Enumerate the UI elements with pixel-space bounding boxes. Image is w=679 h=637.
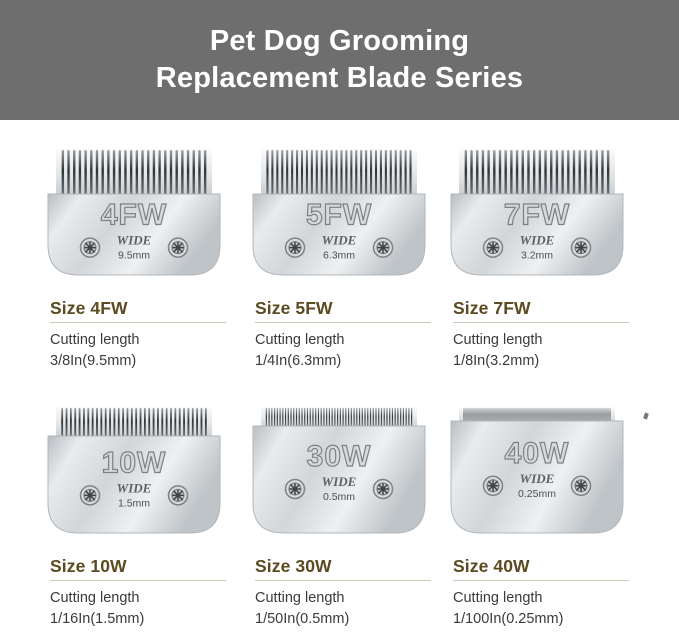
svg-text:WIDE: WIDE — [322, 474, 357, 489]
cutting-length-value: 1/16In(1.5mm) — [50, 609, 240, 630]
svg-text:7FW: 7FW — [504, 199, 570, 232]
svg-text:40W: 40W — [505, 437, 570, 470]
product-size-title: Size 5FW — [255, 298, 445, 319]
cutting-length-value: 1/4In(6.3mm) — [255, 351, 445, 372]
header-banner: Pet Dog Grooming Replacement Blade Serie… — [0, 0, 679, 120]
svg-text:WIDE: WIDE — [117, 233, 152, 248]
product-description: Cutting length 1/4In(6.3mm) — [255, 330, 445, 371]
svg-text:0.25mm: 0.25mm — [518, 488, 556, 500]
product-size-title: Size 30W — [255, 556, 445, 577]
product-card-10w[interactable]: 10W WIDE 1.5mm Size 10W Cutting length 1… — [31, 378, 237, 636]
product-size-title: Size 40W — [453, 556, 643, 577]
product-row-bottom: 10W WIDE 1.5mm Size 10W Cutting length 1… — [0, 378, 679, 636]
blade-image-10w: 10W WIDE 1.5mm — [31, 402, 237, 542]
product-size-title: Size 4FW — [50, 298, 240, 319]
svg-text:WIDE: WIDE — [117, 480, 152, 495]
product-caption-7fw: Size 7FW Cutting length 1/8In(3.2mm) — [453, 298, 643, 371]
svg-text:0.5mm: 0.5mm — [323, 491, 355, 503]
title-underline — [50, 580, 226, 581]
cutting-length-label: Cutting length — [255, 588, 445, 609]
cutting-length-value: 3/8In(9.5mm) — [50, 351, 240, 372]
cutting-length-value: 1/50In(0.5mm) — [255, 609, 445, 630]
page-title-line-2: Replacement Blade Series — [156, 60, 523, 97]
product-card-30w[interactable]: 30W WIDE 0.5mm Size 30W Cutting length 1… — [236, 378, 442, 636]
product-card-7fw[interactable]: 7FW WIDE 3.2mm Size 7FW Cutting length 1… — [434, 120, 640, 378]
svg-text:WIDE: WIDE — [520, 471, 555, 486]
svg-text:30W: 30W — [307, 440, 372, 473]
blade-image-40w: 40W WIDE 0.25mm — [434, 402, 640, 542]
product-caption-5fw: Size 5FW Cutting length 1/4In(6.3mm) — [255, 298, 445, 371]
svg-text:5FW: 5FW — [306, 199, 372, 232]
cutting-length-label: Cutting length — [255, 330, 445, 351]
product-description: Cutting length 1/16In(1.5mm) — [50, 588, 240, 629]
product-grid: 4FW WIDE 9.5mm Size 4FW Cutting length 3… — [0, 120, 679, 637]
svg-text:6.3mm: 6.3mm — [323, 250, 355, 262]
product-description: Cutting length 1/100In(0.25mm) — [453, 588, 643, 629]
cutting-length-label: Cutting length — [50, 588, 240, 609]
cutting-length-value: 1/100In(0.25mm) — [453, 609, 643, 630]
product-size-title: Size 7FW — [453, 298, 643, 319]
product-caption-10w: Size 10W Cutting length 1/16In(1.5mm) — [50, 556, 240, 629]
product-caption-30w: Size 30W Cutting length 1/50In(0.5mm) — [255, 556, 445, 629]
product-description: Cutting length 3/8In(9.5mm) — [50, 330, 240, 371]
blade-image-30w: 30W WIDE 0.5mm — [236, 402, 442, 542]
product-size-title: Size 10W — [50, 556, 240, 577]
svg-text:4FW: 4FW — [101, 199, 167, 232]
product-caption-4fw: Size 4FW Cutting length 3/8In(9.5mm) — [50, 298, 240, 371]
svg-text:1.5mm: 1.5mm — [118, 497, 150, 509]
cutting-length-value: 1/8In(3.2mm) — [453, 351, 643, 372]
product-card-40w[interactable]: 40W WIDE 0.25mm Size 40W Cutting length … — [434, 378, 640, 636]
svg-text:WIDE: WIDE — [322, 233, 357, 248]
product-card-4fw[interactable]: 4FW WIDE 9.5mm Size 4FW Cutting length 3… — [31, 120, 237, 378]
title-underline — [453, 580, 629, 581]
svg-text:WIDE: WIDE — [520, 233, 555, 248]
title-underline — [50, 322, 226, 323]
svg-text:9.5mm: 9.5mm — [118, 250, 150, 262]
blade-image-5fw: 5FW WIDE 6.3mm — [236, 144, 442, 284]
svg-text:10W: 10W — [102, 446, 167, 479]
product-description: Cutting length 1/50In(0.5mm) — [255, 588, 445, 629]
cutting-length-label: Cutting length — [453, 588, 643, 609]
blade-image-7fw: 7FW WIDE 3.2mm — [434, 144, 640, 284]
blade-image-4fw: 4FW WIDE 9.5mm — [31, 144, 237, 284]
cutting-length-label: Cutting length — [50, 330, 240, 351]
page-title-line-1: Pet Dog Grooming — [210, 23, 469, 60]
product-caption-40w: Size 40W Cutting length 1/100In(0.25mm) — [453, 556, 643, 629]
title-underline — [453, 322, 629, 323]
product-row-top: 4FW WIDE 9.5mm Size 4FW Cutting length 3… — [0, 120, 679, 378]
title-underline — [255, 580, 431, 581]
svg-text:3.2mm: 3.2mm — [521, 250, 553, 262]
product-description: Cutting length 1/8In(3.2mm) — [453, 330, 643, 371]
title-underline — [255, 322, 431, 323]
product-card-5fw[interactable]: 5FW WIDE 6.3mm Size 5FW Cutting length 1… — [236, 120, 442, 378]
cutting-length-label: Cutting length — [453, 330, 643, 351]
